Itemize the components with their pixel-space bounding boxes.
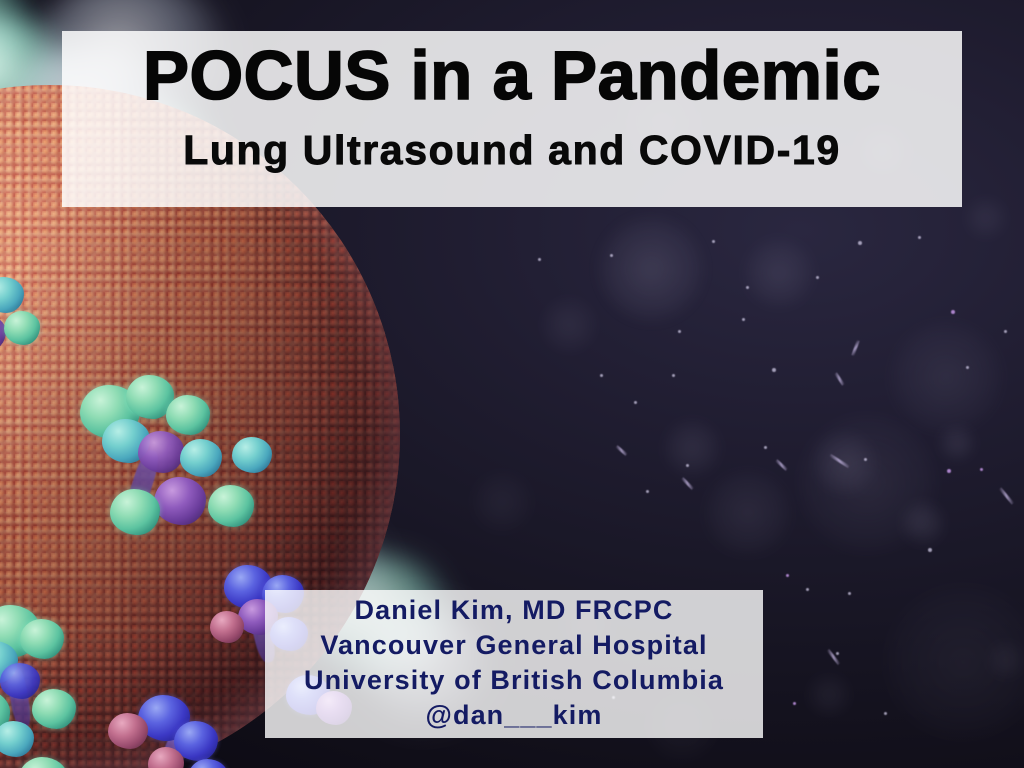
- author-hospital: Vancouver General Hospital: [320, 628, 707, 663]
- page-title: POCUS in a Pandemic: [143, 37, 881, 114]
- page-subtitle: Lung Ultrasound and COVID-19: [183, 128, 841, 173]
- title-panel: POCUS in a Pandemic Lung Ultrasound and …: [62, 31, 962, 207]
- presentation-slide: POCUS in a Pandemic Lung Ultrasound and …: [0, 0, 1024, 768]
- author-panel: Daniel Kim, MD FRCPC Vancouver General H…: [265, 590, 763, 738]
- author-university: University of British Columbia: [304, 663, 724, 698]
- author-name: Daniel Kim, MD FRCPC: [354, 593, 673, 628]
- author-social-handle: @dan___kim: [426, 698, 603, 733]
